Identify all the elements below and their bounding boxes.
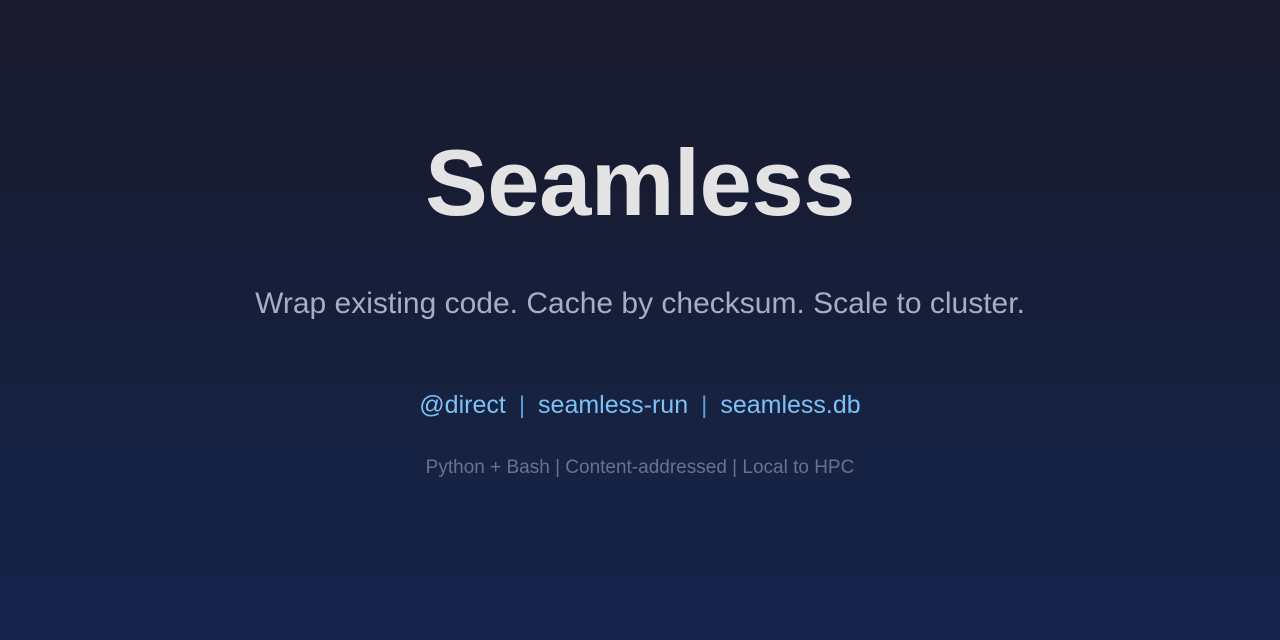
hero-footer-text: Python + Bash | Content-addressed | Loca… bbox=[426, 457, 855, 480]
link-seamless-run[interactable]: seamless-run bbox=[538, 390, 688, 420]
page-title: Seamless bbox=[425, 136, 855, 230]
link-separator: | bbox=[506, 392, 538, 421]
link-separator: | bbox=[688, 392, 720, 421]
hero-tagline: Wrap existing code. Cache by checksum. S… bbox=[255, 286, 1025, 322]
link-direct[interactable]: @direct bbox=[419, 390, 506, 420]
hero-link-row: @direct | seamless-run | seamless.db bbox=[419, 390, 860, 421]
hero-content: Seamless Wrap existing code. Cache by ch… bbox=[0, 0, 1280, 640]
link-seamless-db[interactable]: seamless.db bbox=[720, 390, 860, 420]
